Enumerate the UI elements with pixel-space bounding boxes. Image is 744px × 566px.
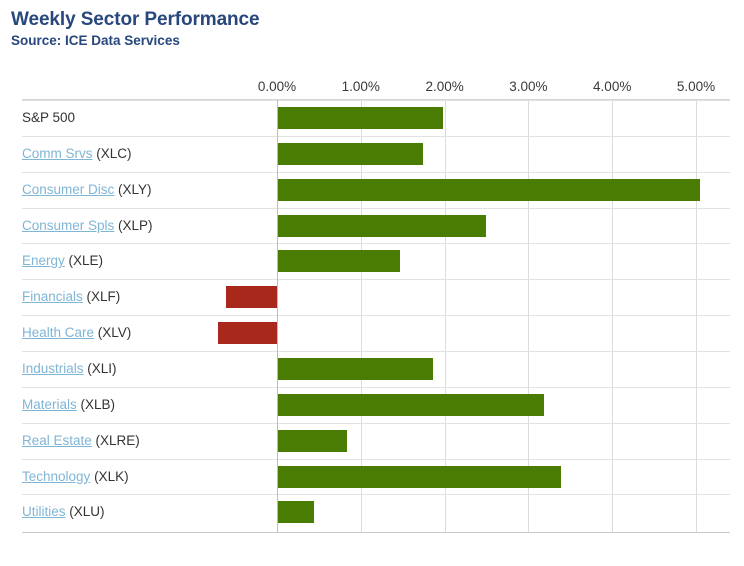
category-label[interactable]: Utilities (XLU) (22, 494, 105, 530)
bar-positive (277, 250, 400, 272)
ticker-symbol: (XLC) (93, 146, 132, 161)
category-label[interactable]: Consumer Spls (XLP) (22, 208, 153, 244)
row-separator (22, 100, 730, 101)
x-axis-tick-label: 3.00% (509, 78, 547, 96)
bar-negative (226, 286, 277, 308)
chart-row: Technology (XLK) (0, 459, 744, 495)
bar-positive (277, 430, 347, 452)
ticker-symbol: (XLB) (77, 397, 115, 412)
chart-row: Utilities (XLU) (0, 494, 744, 530)
sector-link[interactable]: Utilities (22, 504, 66, 519)
category-label[interactable]: Energy (XLE) (22, 243, 103, 279)
ticker-symbol: (XLK) (90, 469, 128, 484)
page-title: Weekly Sector Performance (11, 9, 744, 31)
sector-link[interactable]: Energy (22, 253, 65, 268)
category-label[interactable]: Comm Srvs (XLC) (22, 136, 132, 172)
row-separator (22, 243, 730, 244)
category-label: S&P 500 (22, 100, 75, 136)
bar-positive (277, 179, 700, 201)
category-label[interactable]: Real Estate (XLRE) (22, 423, 140, 459)
chart-plot-area: S&P 500Comm Srvs (XLC)Consumer Disc (XLY… (0, 100, 744, 532)
ticker-symbol: (XLY) (114, 182, 151, 197)
zero-axis-line (277, 100, 278, 532)
row-separator (22, 279, 730, 280)
chart-row: Energy (XLE) (0, 243, 744, 279)
category-label[interactable]: Technology (XLK) (22, 459, 129, 495)
ticker-symbol: (XLRE) (92, 433, 140, 448)
x-axis-tick-label: 1.00% (342, 78, 380, 96)
chart-row: Comm Srvs (XLC) (0, 136, 744, 172)
sector-performance-chart: 0.00%1.00%2.00%3.00%4.00%5.00% S&P 500Co… (0, 78, 744, 548)
ticker-symbol: (XLP) (114, 218, 152, 233)
bar-positive (277, 501, 314, 523)
sector-link[interactable]: Industrials (22, 361, 84, 376)
row-separator (22, 494, 730, 495)
axis-bottom-rule (22, 532, 730, 533)
sector-link[interactable]: Health Care (22, 325, 94, 340)
chart-header: Weekly Sector Performance Source: ICE Da… (0, 0, 744, 49)
bar-positive (277, 394, 544, 416)
chart-row: Real Estate (XLRE) (0, 423, 744, 459)
ticker-symbol: (XLU) (66, 504, 105, 519)
category-label[interactable]: Health Care (XLV) (22, 315, 131, 351)
bar-positive (277, 215, 486, 237)
sector-link[interactable]: Consumer Disc (22, 182, 114, 197)
bar-positive (277, 143, 423, 165)
bar-positive (277, 358, 433, 380)
sector-link[interactable]: Technology (22, 469, 90, 484)
ticker-symbol: (XLI) (84, 361, 117, 376)
chart-row: Materials (XLB) (0, 387, 744, 423)
chart-row: Financials (XLF) (0, 279, 744, 315)
category-label[interactable]: Financials (XLF) (22, 279, 120, 315)
sector-link[interactable]: Materials (22, 397, 77, 412)
category-label[interactable]: Consumer Disc (XLY) (22, 172, 152, 208)
x-axis-tick-label: 2.00% (425, 78, 463, 96)
chart-row: Consumer Spls (XLP) (0, 208, 744, 244)
chart-row: Industrials (XLI) (0, 351, 744, 387)
chart-source-subtitle: Source: ICE Data Services (11, 32, 744, 49)
sector-link[interactable]: Comm Srvs (22, 146, 93, 161)
x-axis-tick-label: 4.00% (593, 78, 631, 96)
row-separator (22, 387, 730, 388)
sector-link[interactable]: Financials (22, 289, 83, 304)
ticker-symbol: (XLE) (65, 253, 103, 268)
x-axis-tick-label: 0.00% (258, 78, 296, 96)
category-label[interactable]: Materials (XLB) (22, 387, 115, 423)
bar-positive (277, 466, 561, 488)
chart-row: Health Care (XLV) (0, 315, 744, 351)
row-separator (22, 351, 730, 352)
x-axis-tick-label: 5.00% (677, 78, 715, 96)
chart-row: Consumer Disc (XLY) (0, 172, 744, 208)
sector-link[interactable]: Real Estate (22, 433, 92, 448)
x-axis-tick-labels: 0.00%1.00%2.00%3.00%4.00%5.00% (0, 78, 744, 100)
bar-negative (218, 322, 277, 344)
ticker-symbol: (XLV) (94, 325, 131, 340)
sector-link[interactable]: Consumer Spls (22, 218, 114, 233)
ticker-symbol: (XLF) (83, 289, 121, 304)
chart-row: S&P 500 (0, 100, 744, 136)
bar-positive (277, 107, 443, 129)
category-label[interactable]: Industrials (XLI) (22, 351, 117, 387)
index-label: S&P 500 (22, 110, 75, 125)
